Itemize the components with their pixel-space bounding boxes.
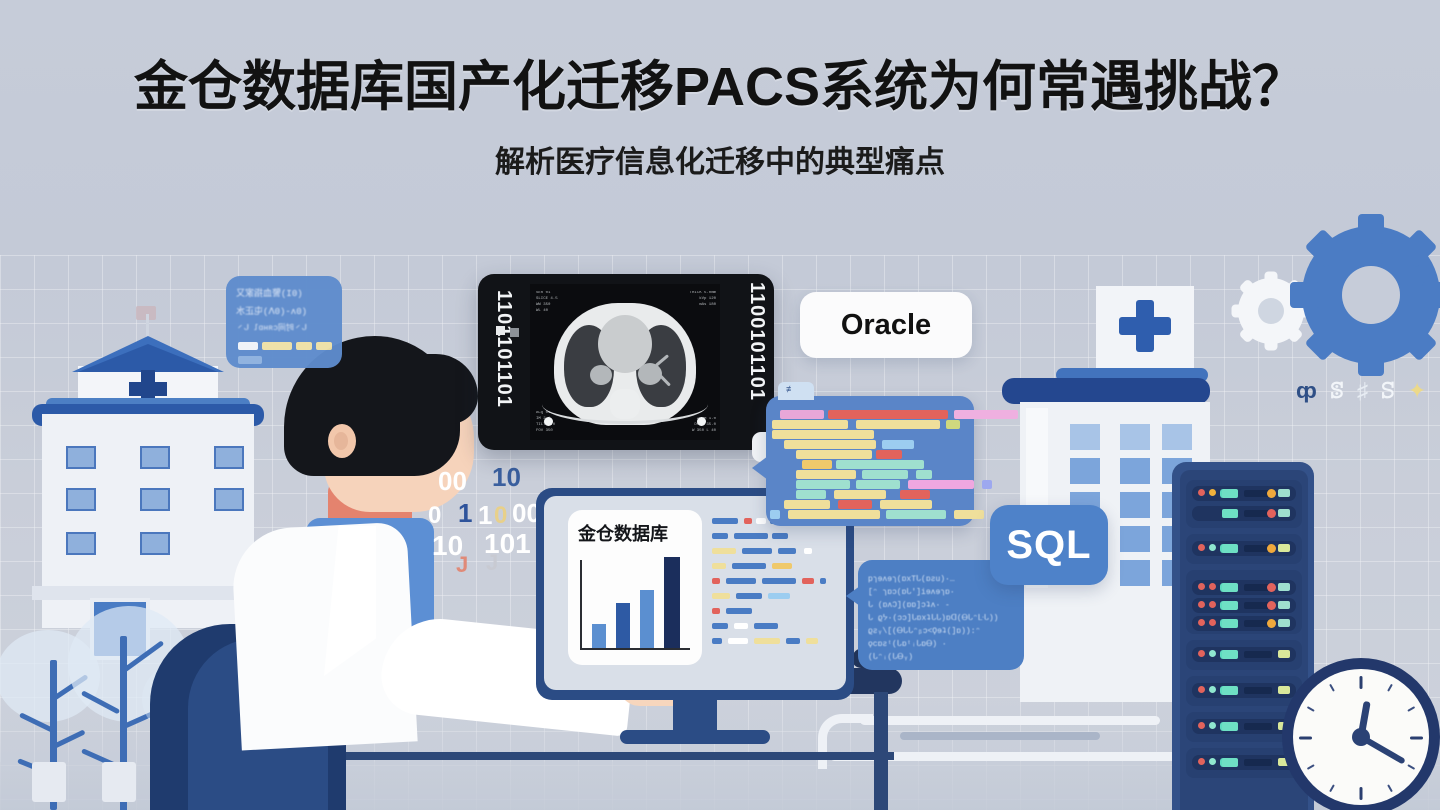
server-slot xyxy=(1222,758,1238,767)
status-led xyxy=(1278,650,1290,658)
code-token xyxy=(880,500,932,509)
sql-badge[interactable]: SQL xyxy=(990,505,1108,585)
code-token xyxy=(856,480,900,489)
status-led xyxy=(1198,583,1205,590)
code-token xyxy=(712,593,730,599)
server-blade xyxy=(1192,683,1296,698)
info-bubble-line: ᒐ丶时间сянɒl ᒐ丶 xyxy=(236,322,307,333)
code-lines xyxy=(766,396,974,526)
code-token xyxy=(712,548,736,554)
code-token xyxy=(886,510,946,519)
desk-leg xyxy=(874,692,888,810)
status-led xyxy=(1209,489,1216,496)
code-token xyxy=(882,440,914,449)
hair-side xyxy=(382,354,478,424)
binary-strip-right: 1100101101 xyxy=(745,282,768,442)
sql-line: ϱƨᵧ\[(Ꮎᒐᒐᵔᵦɔ<Ϙɘʇ(]ɒ)):ᵔ xyxy=(868,626,980,636)
sql-line: (ᒐᵔᵢ(ᒐᎾᵧ) xyxy=(868,652,913,662)
server-blade xyxy=(1192,506,1296,521)
code-token xyxy=(772,430,874,439)
gear-tooth xyxy=(1422,282,1440,308)
desk-rail xyxy=(254,752,894,760)
status-led xyxy=(1278,489,1290,497)
server-slot xyxy=(1222,619,1238,628)
server-blade xyxy=(1192,755,1296,770)
code-token xyxy=(712,608,720,614)
code-token xyxy=(796,450,872,459)
server-blade xyxy=(1192,541,1296,556)
sql-line: ᒐ ϱᔭ·(ɔɔ]ᒐɒxʇᒐᒐ)ɒᗡ(Ꮎᒐᵔᒷᒐ)) xyxy=(868,613,998,623)
page-subtitle: 解析医疗信息化迁移中的典型痛点 xyxy=(0,137,1440,181)
code-token xyxy=(728,638,748,644)
info-bubble-line: (0I)警血指家又 xyxy=(236,286,303,299)
code-token xyxy=(732,563,766,569)
code-token xyxy=(900,490,930,499)
status-led xyxy=(1278,601,1290,609)
server-bay xyxy=(1244,687,1272,694)
code-token xyxy=(734,533,768,539)
code-token xyxy=(772,563,792,569)
clock-tick xyxy=(1407,764,1415,770)
window xyxy=(1120,424,1150,450)
code-token xyxy=(736,593,762,599)
page-title: 金仓数据库国产化迁移PACS系统为何常遇挑战？ xyxy=(0,58,1440,117)
chart-bar xyxy=(616,603,630,648)
sql-line: ϙϲɒƨᵗ(ᒐɒᵗᵢᒐɒᎾ) · xyxy=(868,639,947,649)
server-slot xyxy=(1222,601,1238,610)
code-token xyxy=(772,533,788,539)
server-blade xyxy=(1192,580,1296,595)
code-token xyxy=(908,480,974,489)
status-led xyxy=(1198,489,1205,496)
status-led xyxy=(1198,544,1205,551)
server-blade xyxy=(1192,486,1296,501)
monitor-code-lines xyxy=(712,518,838,660)
status-led xyxy=(1209,583,1216,590)
status-led xyxy=(1198,758,1205,765)
code-token xyxy=(712,563,726,569)
code-token xyxy=(784,500,830,509)
server-slot xyxy=(1222,544,1238,553)
sql-line: pɿɘʌɘɿ(ɒxTᒐ(ɒƨu)·… xyxy=(868,574,955,584)
decorative-glyph: ꕷ xyxy=(1330,378,1344,404)
ct-table-arc xyxy=(542,385,708,424)
status-led xyxy=(1209,722,1216,729)
status-led xyxy=(1198,601,1205,608)
code-token xyxy=(712,533,728,539)
chart-x-axis xyxy=(580,648,690,650)
ear-inner xyxy=(334,432,348,450)
gear-tooth xyxy=(1265,336,1278,351)
window xyxy=(66,446,96,469)
window xyxy=(1070,458,1100,484)
status-led xyxy=(1278,583,1290,591)
code-token xyxy=(876,450,902,459)
ct-meta-top-left: SER 01 SLICE 4.5 WW 350 WL 40 xyxy=(536,290,558,314)
clock-tick xyxy=(1360,676,1363,689)
medical-cross-icon-bar xyxy=(129,382,167,396)
code-token xyxy=(796,480,850,489)
window xyxy=(140,488,170,511)
hospital-eaves xyxy=(1002,378,1210,404)
server-bay xyxy=(1244,759,1272,766)
clock-tick xyxy=(1299,737,1312,740)
server-bay xyxy=(1244,723,1272,730)
code-token xyxy=(838,500,872,509)
oracle-badge[interactable]: Oracle xyxy=(800,292,972,358)
gear-tooth xyxy=(1358,346,1384,376)
code-token xyxy=(772,420,848,429)
server-blade xyxy=(1192,616,1296,631)
status-led xyxy=(1209,601,1216,608)
code-token xyxy=(802,460,832,469)
gear-tooth xyxy=(1358,214,1384,244)
clock-tick xyxy=(1329,784,1335,792)
server-slot xyxy=(1222,686,1238,695)
monitor-base xyxy=(620,730,770,744)
sql-bubble-pointer xyxy=(846,586,860,606)
binary-strip-left: 1101101101 xyxy=(492,290,515,434)
gear-tooth xyxy=(1232,305,1247,318)
window xyxy=(1070,424,1100,450)
status-led xyxy=(1209,650,1216,657)
sql-line: ᒐ (ɒʌϽ](ɒɒ]ɔʇʌ· - xyxy=(868,600,950,610)
code-token xyxy=(712,638,722,644)
clock-tick xyxy=(1407,706,1415,712)
code-token xyxy=(802,578,814,584)
clock-tick xyxy=(1360,787,1363,800)
clock-face xyxy=(1293,669,1429,805)
clock-tick xyxy=(1387,784,1393,792)
illustration-canvas: 金仓数据库国产化迁移PACS系统为何常遇挑战？ 解析医疗信息化迁移中的典型痛点 xyxy=(0,0,1440,810)
server-blade xyxy=(1192,598,1296,613)
chart-card: 金仓数据库 xyxy=(568,510,702,665)
code-token xyxy=(804,548,812,554)
status-led xyxy=(1198,650,1205,657)
decorative-glyph: ȹ xyxy=(1296,378,1317,404)
code-token xyxy=(834,490,886,499)
window xyxy=(1162,424,1192,450)
code-token xyxy=(712,623,728,629)
chart-bar xyxy=(664,557,680,648)
server-unit xyxy=(1186,570,1302,634)
ct-image-area: SER 01 SLICE 4.5 WW 350 WL 40 THICK 5.0m… xyxy=(530,284,720,440)
window xyxy=(66,532,96,555)
server-slot xyxy=(1222,509,1238,518)
chart-bar xyxy=(640,590,654,648)
clock-tick xyxy=(1307,706,1315,712)
code-token xyxy=(796,490,826,499)
window xyxy=(1120,458,1150,484)
server-blade xyxy=(1192,719,1296,734)
status-led xyxy=(1267,583,1276,592)
status-led xyxy=(1267,619,1276,628)
chart-title: 金仓数据库 xyxy=(578,520,668,546)
server-unit xyxy=(1186,534,1302,564)
clock-tick xyxy=(1307,764,1315,770)
status-led xyxy=(1198,686,1205,693)
code-token xyxy=(862,470,908,479)
sql-line: [ᵔ ɿɒɔ(ɒᒐ']iɘʌɘɿɒ· xyxy=(868,587,955,597)
code-editor-panel: ≢ xyxy=(766,396,974,526)
code-token xyxy=(756,518,766,524)
server-unit xyxy=(1186,480,1302,528)
server-slot xyxy=(1222,722,1238,731)
code-token xyxy=(726,608,752,614)
gear-tooth xyxy=(1290,282,1320,308)
code-token xyxy=(954,410,1018,419)
code-token xyxy=(784,440,876,449)
decorative-glyph: ꕶ xyxy=(1381,378,1395,404)
oracle-label: Oracle xyxy=(841,309,931,342)
decorative-glyph: ♯ xyxy=(1357,378,1368,404)
status-led xyxy=(1267,489,1276,498)
window xyxy=(140,532,170,555)
status-led xyxy=(1209,758,1216,765)
window xyxy=(1120,560,1150,586)
window xyxy=(140,446,170,469)
clock-tick xyxy=(1329,684,1335,692)
clock-center-pin xyxy=(1352,728,1370,746)
clock-tick xyxy=(1387,684,1393,692)
window xyxy=(66,488,96,511)
monitor-neck xyxy=(673,698,717,734)
server-slot xyxy=(1222,650,1238,659)
code-token xyxy=(754,623,778,629)
status-led xyxy=(1198,722,1205,729)
code-token xyxy=(954,510,984,519)
clock-tick xyxy=(1410,737,1423,740)
hospital-roof-inner xyxy=(78,344,218,372)
code-token xyxy=(788,510,880,519)
status-led xyxy=(1209,686,1216,693)
lab-coat-left xyxy=(230,522,417,751)
code-token xyxy=(742,548,772,554)
code-token xyxy=(916,470,932,479)
status-led xyxy=(1267,544,1276,553)
status-led xyxy=(1267,601,1276,610)
decorative-glyph: ✦ xyxy=(1408,378,1426,404)
wall-clock xyxy=(1282,658,1440,810)
code-token xyxy=(796,470,856,479)
chart-y-axis xyxy=(580,560,582,648)
gear-icon xyxy=(1302,226,1440,364)
status-led xyxy=(1198,619,1205,626)
code-token xyxy=(726,578,756,584)
window xyxy=(1120,492,1150,518)
code-token xyxy=(734,623,748,629)
decorative-glyph-row: ȹꕷ♯ꕶ✦ xyxy=(1296,378,1426,404)
code-token xyxy=(780,410,824,419)
status-led xyxy=(1278,619,1290,627)
header: 金仓数据库国产化迁移PACS系统为何常遇挑战？ 解析医疗信息化迁移中的典型痛点 xyxy=(0,58,1440,181)
code-token xyxy=(754,638,780,644)
bar-chart xyxy=(580,560,690,650)
status-led xyxy=(1278,509,1290,517)
info-bubble-line: (0ᴧ-(0ᐱ)屯正水 xyxy=(236,304,307,317)
status-led xyxy=(1267,509,1276,518)
code-token xyxy=(768,593,790,599)
code-token xyxy=(982,480,992,489)
code-token xyxy=(712,518,738,524)
code-token xyxy=(856,420,940,429)
code-token xyxy=(946,420,960,429)
chart-bar xyxy=(592,624,606,648)
code-token xyxy=(806,638,818,644)
ct-meta-top-right: THICK 5.0mm kVp 120 mAs 180 xyxy=(690,290,716,308)
code-token xyxy=(820,578,826,584)
server-slot xyxy=(1222,489,1238,498)
code-token xyxy=(744,518,752,524)
server-bay xyxy=(1244,651,1272,658)
medical-cross-icon-bar xyxy=(1119,317,1171,335)
server-blade xyxy=(1192,647,1296,662)
code-token xyxy=(786,638,800,644)
code-token xyxy=(712,578,720,584)
sql-label: SQL xyxy=(1006,523,1091,568)
code-panel-tab-label: ≢ xyxy=(786,384,795,394)
code-token xyxy=(836,460,924,469)
window xyxy=(1120,526,1150,552)
status-led xyxy=(1209,619,1216,626)
code-token xyxy=(762,578,796,584)
info-bubble: (0I)警血指家又 (0ᴧ-(0ᐱ)屯正水 ᒐ丶时间сянɒl ᒐ丶 xyxy=(226,276,342,368)
code-token xyxy=(770,510,780,519)
code-token xyxy=(778,548,796,554)
server-slot xyxy=(1222,583,1238,592)
gear-tooth xyxy=(1265,272,1278,287)
status-led xyxy=(1209,544,1216,551)
ct-scan-display: 1101101101 1100101101 SER 01 SLICE 4.5 W… xyxy=(478,274,774,450)
status-led xyxy=(1278,544,1290,552)
code-token xyxy=(828,410,948,419)
